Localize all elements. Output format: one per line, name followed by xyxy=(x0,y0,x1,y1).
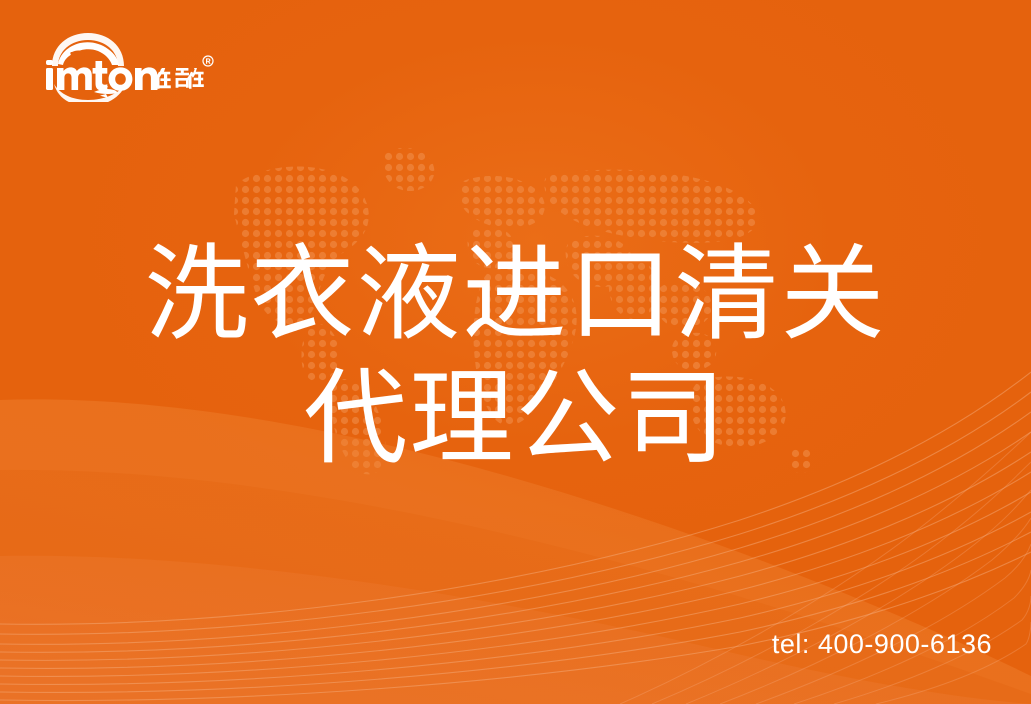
promo-banner: 洗衣液进口清关 代理公司 tel: 400-900-6136 xyxy=(0,0,1031,704)
trademark-symbol xyxy=(203,56,213,66)
contact-phone[interactable]: tel: 400-900-6136 xyxy=(772,629,992,660)
chinese-name-glyphs xyxy=(155,68,204,89)
imton-logo[interactable] xyxy=(38,28,218,102)
headline-line-2: 代理公司 xyxy=(0,356,1031,480)
page-title: 洗衣液进口清关 代理公司 xyxy=(0,232,1031,480)
globe-dome-icon xyxy=(52,33,124,66)
headline-line-1: 洗衣液进口清关 xyxy=(0,232,1031,356)
